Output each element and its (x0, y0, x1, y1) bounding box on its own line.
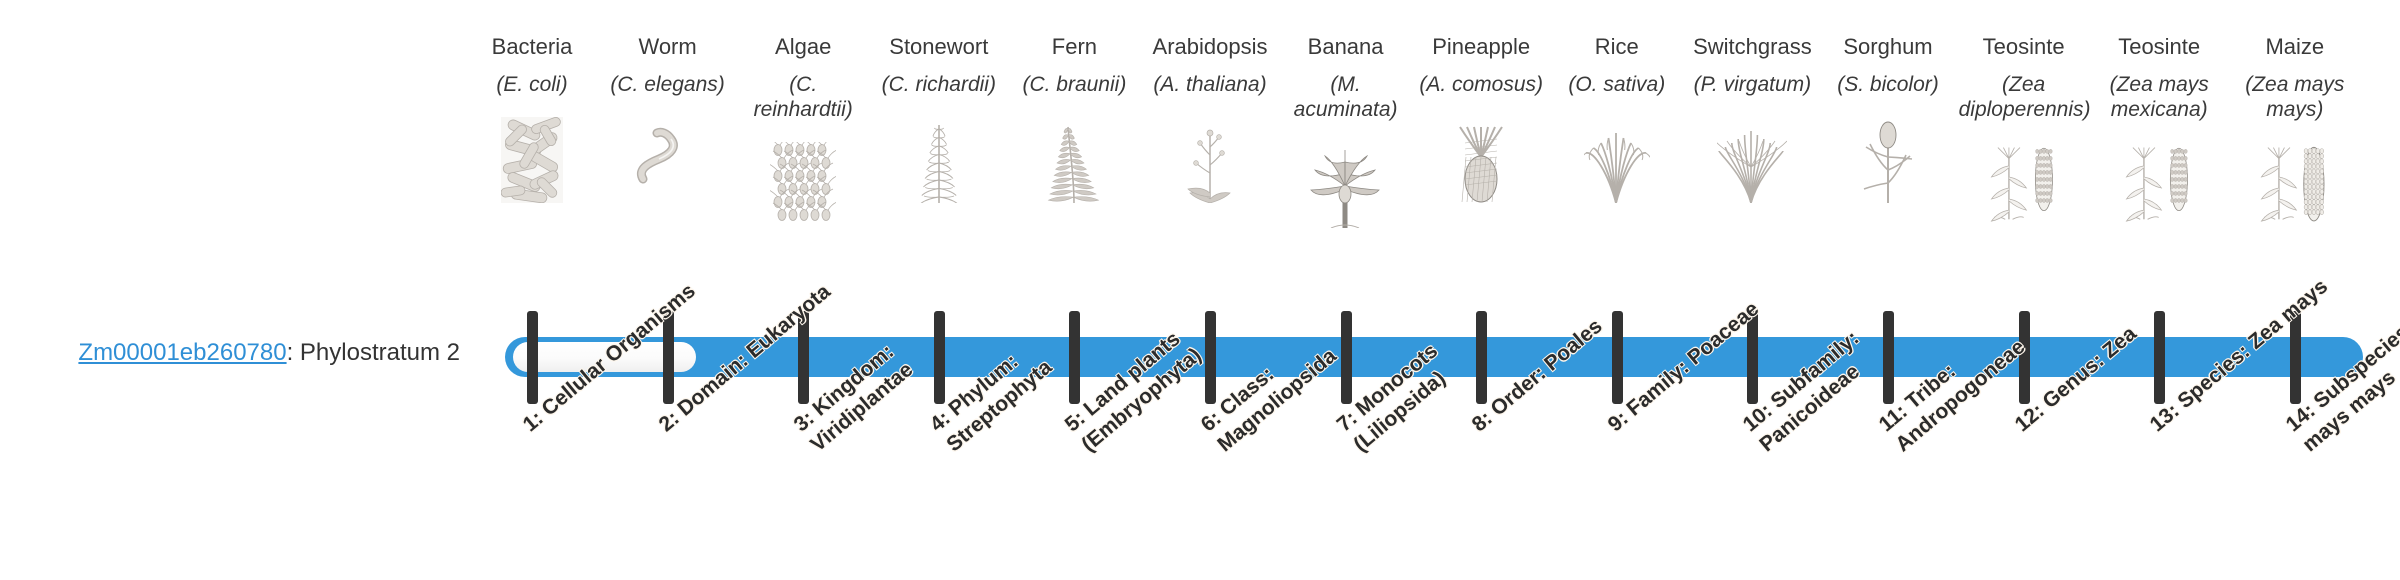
stratum-number: 2: (654, 407, 683, 437)
stratum-rank-text: Monocots (Liliopsida) (1349, 339, 1450, 456)
stratum-rank-text: Genus: Zea (2038, 322, 2140, 413)
stratum-rank-text: Kingdom: Viridiplantae (807, 340, 918, 456)
stratum-rank-text: Family: Poaceae (1622, 297, 1763, 420)
stratum-rank-text: Subspecies: Zea mays mays (2298, 289, 2400, 456)
stratum-number: 9: (1603, 407, 1632, 437)
stratum-rank-text: Land plants (Embryophyta) (1078, 327, 1206, 456)
stratum-rank-text: Subfamily: Panicoideae (1756, 326, 1865, 456)
stratum-rank-text: Class: Magnoliopsida (1213, 344, 1340, 456)
stratum-rank-text: Species: Zea mays (2174, 275, 2333, 413)
stratum-rank-text: Tribe: Andropogoneae (1891, 335, 2029, 456)
stratum-rank-text: Phylum: Streptophyta (942, 350, 1056, 457)
stratum-label-list: 1: Cellular Organisms2: Domain: Eukaryot… (0, 0, 2400, 580)
stratum-number: 13: (2146, 399, 2184, 436)
stratum-number: 12: (2010, 399, 2048, 436)
phylostratum-timeline-figure: Zm00001eb260780: Phylostratum 2 Bacteria… (0, 0, 2400, 580)
